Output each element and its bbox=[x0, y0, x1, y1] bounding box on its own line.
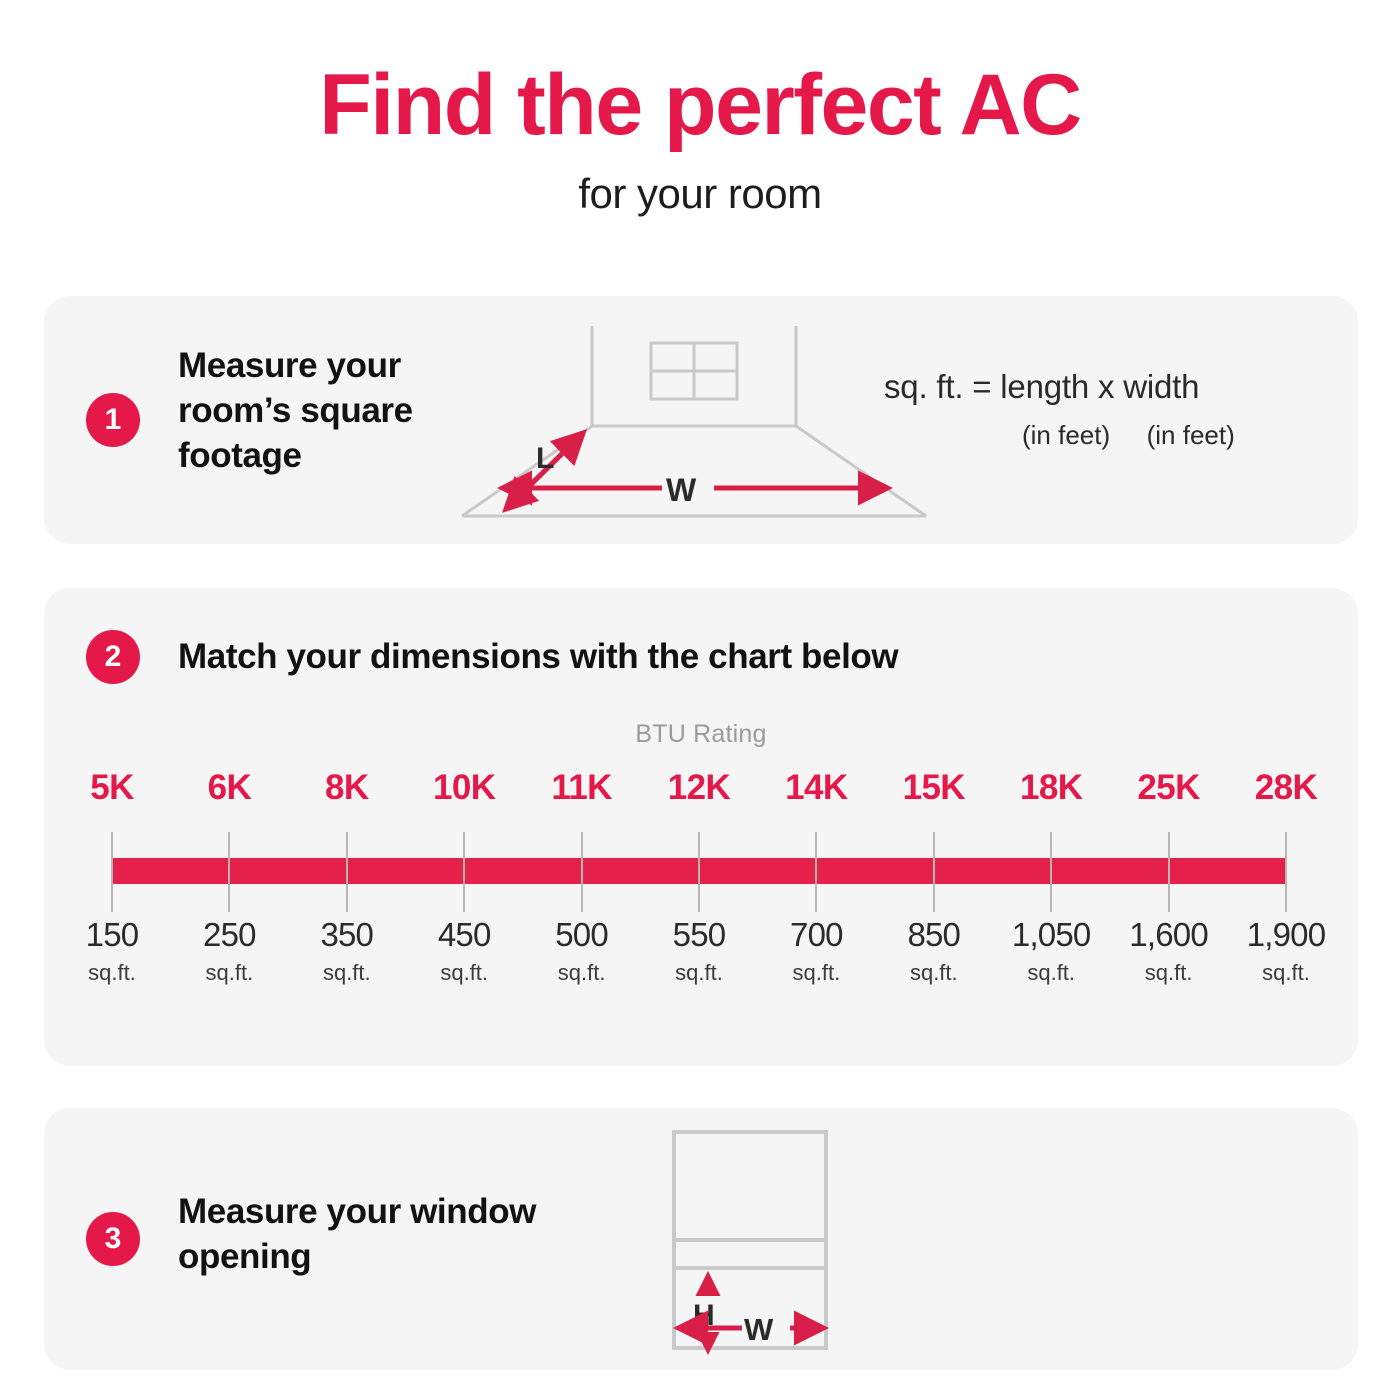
btu-value-label: 14K bbox=[768, 770, 864, 805]
tick-line bbox=[1050, 832, 1052, 912]
sqft-value-label: 700 bbox=[768, 918, 864, 951]
room-perspective-diagram: L W bbox=[444, 308, 944, 538]
sqft-value-label: 250 bbox=[181, 918, 277, 951]
btu-scale-chart: 5K150sq.ft.6K250sq.ft.8K350sq.ft.10K450s… bbox=[44, 770, 1358, 1030]
step-card-3: 3 Measure your window opening H bbox=[44, 1108, 1358, 1370]
tick-line bbox=[815, 832, 817, 912]
square-footage-formula: sq. ft. = length x width (in feet) (in f… bbox=[884, 368, 1235, 451]
window-opening-diagram: H W bbox=[636, 1120, 896, 1360]
btu-value-label: 15K bbox=[886, 770, 982, 805]
sqft-value-label: 500 bbox=[534, 918, 630, 951]
infographic-page: Find the perfect AC for your room 1 Meas… bbox=[0, 0, 1400, 1400]
btu-scale-tick: 18K1,050sq.ft. bbox=[1003, 770, 1099, 805]
sqft-value-label: 1,900 bbox=[1238, 918, 1334, 951]
sqft-unit-label: sq.ft. bbox=[768, 962, 864, 984]
room-width-label: W bbox=[666, 472, 697, 508]
btu-value-label: 18K bbox=[1003, 770, 1099, 805]
sqft-unit-label: sq.ft. bbox=[1003, 962, 1099, 984]
sqft-value-label: 550 bbox=[651, 918, 747, 951]
sqft-unit-label: sq.ft. bbox=[1121, 962, 1217, 984]
btu-rating-axis-label: BTU Rating bbox=[44, 720, 1358, 749]
btu-scale-tick: 15K850sq.ft. bbox=[886, 770, 982, 805]
btu-scale-tick: 8K350sq.ft. bbox=[299, 770, 395, 805]
sqft-unit-label: sq.ft. bbox=[651, 962, 747, 984]
step-card-1: 1 Measure your room’s square footage bbox=[44, 296, 1358, 544]
sqft-unit-label: sq.ft. bbox=[1238, 962, 1334, 984]
btu-scale-tick: 10K450sq.ft. bbox=[416, 770, 512, 805]
sqft-value-label: 850 bbox=[886, 918, 982, 951]
btu-value-label: 10K bbox=[416, 770, 512, 805]
page-title: Find the perfect AC bbox=[0, 62, 1400, 148]
room-length-label: L bbox=[536, 442, 554, 475]
sqft-unit-label: sq.ft. bbox=[886, 962, 982, 984]
btu-value-label: 5K bbox=[64, 770, 160, 805]
page-header: Find the perfect AC for your room bbox=[0, 0, 1400, 218]
btu-value-label: 8K bbox=[299, 770, 395, 805]
btu-scale-tick: 28K1,900sq.ft. bbox=[1238, 770, 1334, 805]
sqft-unit-label: sq.ft. bbox=[181, 962, 277, 984]
tick-line bbox=[1168, 832, 1170, 912]
step-title-3: Measure your window opening bbox=[178, 1190, 598, 1280]
btu-value-label: 25K bbox=[1121, 770, 1217, 805]
sqft-value-label: 1,600 bbox=[1121, 918, 1217, 951]
tick-line bbox=[463, 832, 465, 912]
btu-scale-tick: 14K700sq.ft. bbox=[768, 770, 864, 805]
formula-unit-length: (in feet) bbox=[1022, 420, 1110, 451]
tick-line bbox=[581, 832, 583, 912]
tick-line bbox=[698, 832, 700, 912]
step-card-2: 2 Match your dimensions with the chart b… bbox=[44, 588, 1358, 1066]
sqft-unit-label: sq.ft. bbox=[534, 962, 630, 984]
step-badge-2: 2 bbox=[86, 630, 140, 684]
sqft-value-label: 350 bbox=[299, 918, 395, 951]
wall-window-icon bbox=[651, 343, 737, 399]
page-subtitle: for your room bbox=[0, 170, 1400, 218]
sqft-value-label: 150 bbox=[64, 918, 160, 951]
btu-scale-tick: 25K1,600sq.ft. bbox=[1121, 770, 1217, 805]
step-badge-3: 3 bbox=[86, 1212, 140, 1266]
tick-line bbox=[346, 832, 348, 912]
formula-equation: sq. ft. = length x width bbox=[884, 368, 1235, 406]
tick-line bbox=[111, 832, 113, 912]
btu-value-label: 6K bbox=[181, 770, 277, 805]
tick-line bbox=[1285, 832, 1287, 912]
btu-value-label: 28K bbox=[1238, 770, 1334, 805]
sqft-value-label: 1,050 bbox=[1003, 918, 1099, 951]
btu-value-label: 12K bbox=[651, 770, 747, 805]
sqft-unit-label: sq.ft. bbox=[299, 962, 395, 984]
sqft-unit-label: sq.ft. bbox=[416, 962, 512, 984]
btu-scale-tick: 5K150sq.ft. bbox=[64, 770, 160, 805]
formula-units: (in feet) (in feet) bbox=[884, 420, 1235, 451]
window-width-label: W bbox=[744, 1312, 774, 1347]
tick-line bbox=[228, 832, 230, 912]
step-badge-1: 1 bbox=[86, 393, 140, 447]
btu-scale-tick: 11K500sq.ft. bbox=[534, 770, 630, 805]
btu-scale-tick: 6K250sq.ft. bbox=[181, 770, 277, 805]
sqft-value-label: 450 bbox=[416, 918, 512, 951]
btu-scale-tick: 12K550sq.ft. bbox=[651, 770, 747, 805]
step-title-2: Match your dimensions with the chart bel… bbox=[178, 635, 1178, 680]
btu-value-label: 11K bbox=[534, 770, 630, 805]
tick-line bbox=[933, 832, 935, 912]
formula-unit-width: (in feet) bbox=[1147, 420, 1235, 451]
sqft-unit-label: sq.ft. bbox=[64, 962, 160, 984]
